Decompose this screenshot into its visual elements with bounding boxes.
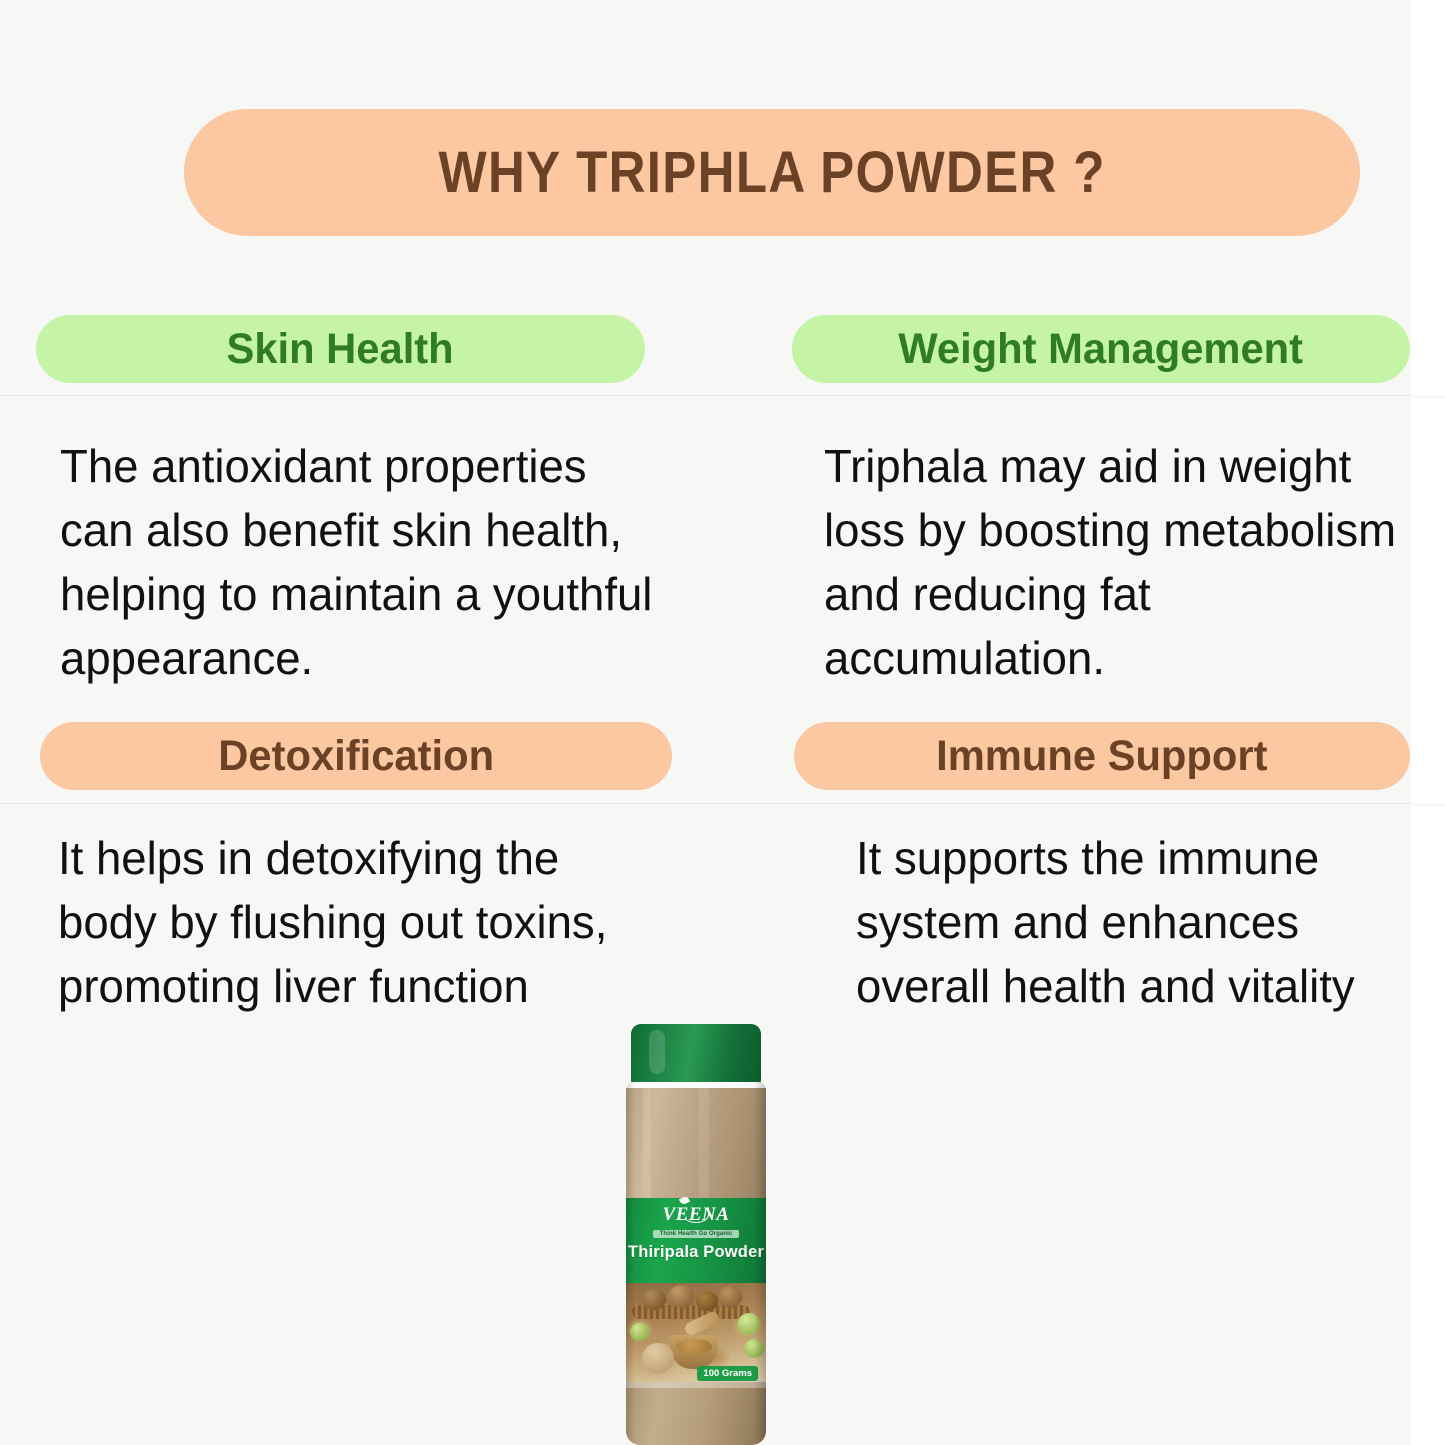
nut-icon (668, 1285, 694, 1308)
bottle-cap (631, 1024, 761, 1086)
benefit-label-weight-management: Weight Management (899, 325, 1304, 374)
base-lip (626, 1382, 766, 1388)
benefit-pill-weight-management: Weight Management (792, 315, 1410, 383)
powder-in-bowl (676, 1339, 712, 1354)
page-title: WHY TRIPHLA POWDER ? (438, 139, 1105, 206)
powder-fill-base (626, 1382, 766, 1445)
shell-icon (642, 1343, 674, 1373)
wooden-bowl-icon (670, 1335, 718, 1369)
benefit-body-detoxification: It helps in detoxifying the body by flus… (58, 826, 711, 1018)
cap-highlight (649, 1030, 665, 1074)
title-banner: WHY TRIPHLA POWDER ? (184, 109, 1360, 236)
amla-fruit-icon (744, 1339, 764, 1358)
product-bottle-image: VEENA Think Health Go Organic Thiripala … (618, 1024, 774, 1445)
nut-icon (718, 1286, 742, 1308)
nut-icon (642, 1289, 666, 1310)
amla-fruit-icon (630, 1323, 649, 1341)
product-name: Thiripala Powder (628, 1243, 764, 1262)
gutter-break-2 (1411, 804, 1445, 806)
gutter-break-1 (1411, 396, 1445, 398)
divider-row-2 (0, 803, 1411, 804)
benefit-pill-skin-health: Skin Health (36, 315, 645, 383)
benefit-label-skin-health: Skin Health (227, 325, 454, 374)
bottle-body: VEENA Think Health Go Organic Thiripala … (626, 1082, 766, 1445)
leaf-swirl-icon (683, 1207, 709, 1223)
benefit-body-weight-management: Triphala may aid in weight loss by boost… (824, 434, 1418, 690)
benefit-label-detoxification: Detoxification (218, 732, 494, 781)
divider-row-1 (0, 395, 1411, 396)
amla-fruit-icon (738, 1313, 760, 1334)
benefit-body-skin-health: The antioxidant properties can also bene… (60, 434, 713, 690)
net-weight-badge: 100 Grams (697, 1366, 758, 1381)
benefit-body-immune-support: It supports the immune system and enhanc… (856, 826, 1410, 1018)
label-ingredient-photo: 100 Grams (626, 1283, 766, 1389)
infographic-page: WHY TRIPHLA POWDER ? Skin Health Weight … (0, 0, 1445, 1445)
benefit-pill-detoxification: Detoxification (40, 722, 672, 790)
bottle-label-header: VEENA Think Health Go Organic Thiripala … (626, 1198, 766, 1283)
brand-tagline: Think Health Go Organic (653, 1230, 740, 1238)
benefit-pill-immune-support: Immune Support (794, 722, 1410, 790)
nut-icon (696, 1291, 718, 1311)
right-gutter-strip (1411, 0, 1445, 1445)
powder-fill-top (626, 1088, 766, 1198)
benefit-label-immune-support: Immune Support (936, 732, 1267, 781)
